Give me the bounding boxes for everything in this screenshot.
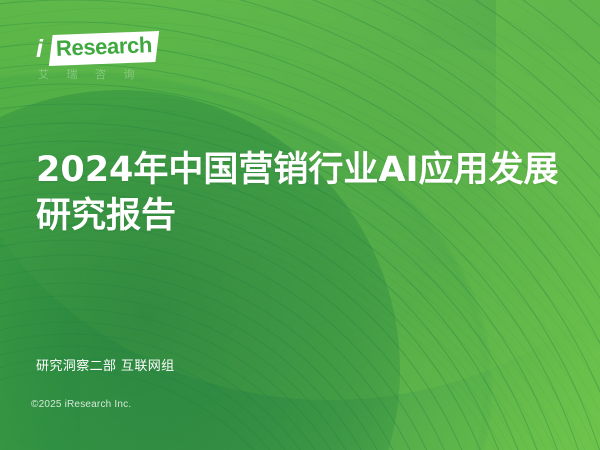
page-title-line-2: 研究报告: [36, 194, 584, 240]
logo-i-mark: i: [36, 37, 42, 62]
logo-subtitle-chinese: 艾 瑞 咨 询: [38, 66, 142, 82]
department-label: 研究洞察二部 互联网组: [36, 355, 175, 374]
page-title-line-1: 2024年中国营销行业AI应用发展: [36, 148, 584, 194]
iresearch-logo: i Research 艾 瑞 咨 询: [34, 33, 174, 89]
copyright-notice: ©2025 iResearch Inc.: [31, 399, 131, 410]
page-title: 2024年中国营销行业AI应用发展 研究报告: [36, 148, 584, 239]
report-cover-slide: i Research 艾 瑞 咨 询 2024年中国营销行业AI应用发展 研究报…: [0, 0, 600, 450]
logo-wordmark: Research: [56, 34, 153, 60]
